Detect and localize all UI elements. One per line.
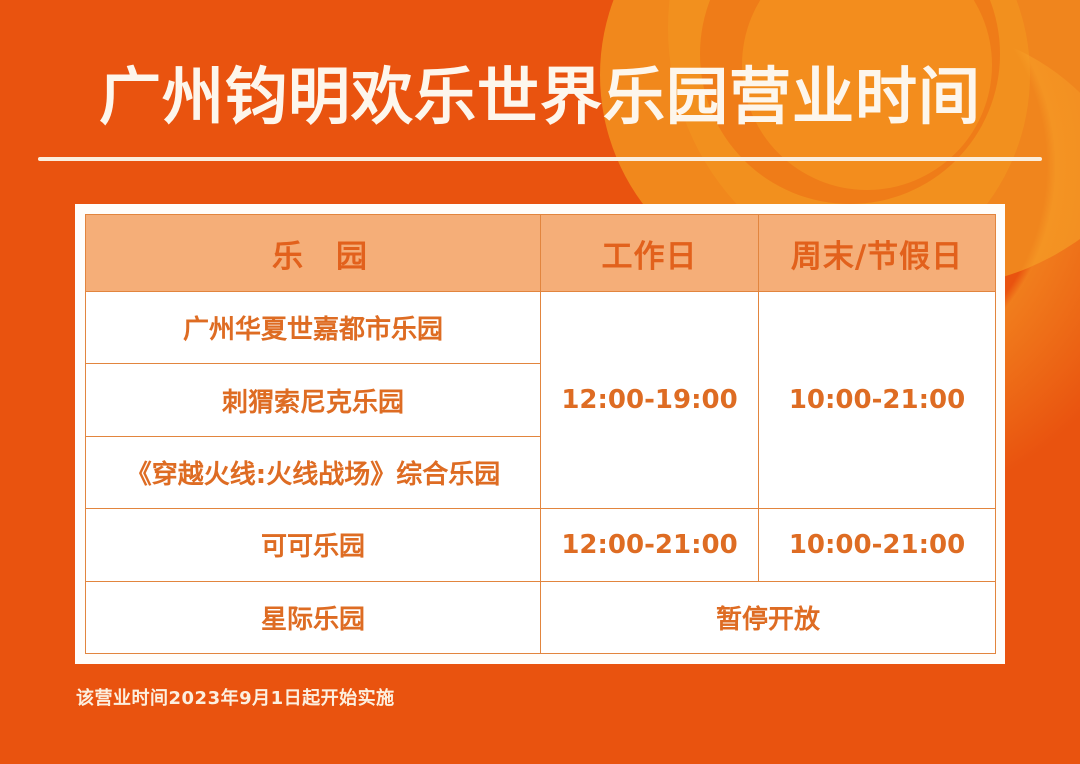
footnote-text: 该营业时间2023年9月1日起开始实施 <box>76 684 395 710</box>
operating-hours-table: 乐 园 工作日 周末/节假日 广州华夏世嘉都市乐园 12:00-19:00 10… <box>85 214 996 654</box>
weekend-hours-cell: 10:00-21:00 <box>759 509 996 581</box>
hours-table-frame: 乐 园 工作日 周末/节假日 广州华夏世嘉都市乐园 12:00-19:00 10… <box>75 204 1005 664</box>
weekend-hours-cell: 10:00-21:00 <box>759 292 996 509</box>
table-body: 广州华夏世嘉都市乐园 12:00-19:00 10:00-21:00 刺猬索尼克… <box>86 292 996 654</box>
table-header-row: 乐 园 工作日 周末/节假日 <box>86 215 996 292</box>
table-row: 星际乐园 暂停开放 <box>86 581 996 653</box>
table-row: 广州华夏世嘉都市乐园 12:00-19:00 10:00-21:00 <box>86 292 996 364</box>
column-header-park: 乐 园 <box>86 215 541 292</box>
page-title: 广州钧明欢乐世界乐园营业时间 <box>0 62 1080 132</box>
park-name-cell: 刺猬索尼克乐园 <box>86 364 541 436</box>
weekday-hours-cell: 12:00-21:00 <box>541 509 759 581</box>
park-name-cell: 《穿越火线:火线战场》综合乐园 <box>86 436 541 508</box>
table-header: 乐 园 工作日 周末/节假日 <box>86 215 996 292</box>
table-row: 可可乐园 12:00-21:00 10:00-21:00 <box>86 509 996 581</box>
column-header-weekend: 周末/节假日 <box>759 215 996 292</box>
title-divider <box>38 157 1042 161</box>
park-name-cell: 可可乐园 <box>86 509 541 581</box>
park-name-cell: 广州华夏世嘉都市乐园 <box>86 292 541 364</box>
park-hours-poster: 广州钧明欢乐世界乐园营业时间 乐 园 工作日 周末/节假日 广州华夏世嘉都市乐园… <box>0 0 1080 764</box>
column-header-weekday: 工作日 <box>541 215 759 292</box>
weekday-hours-cell: 12:00-19:00 <box>541 292 759 509</box>
park-name-cell: 星际乐园 <box>86 581 541 653</box>
status-badge: 暂停开放 <box>541 581 996 653</box>
